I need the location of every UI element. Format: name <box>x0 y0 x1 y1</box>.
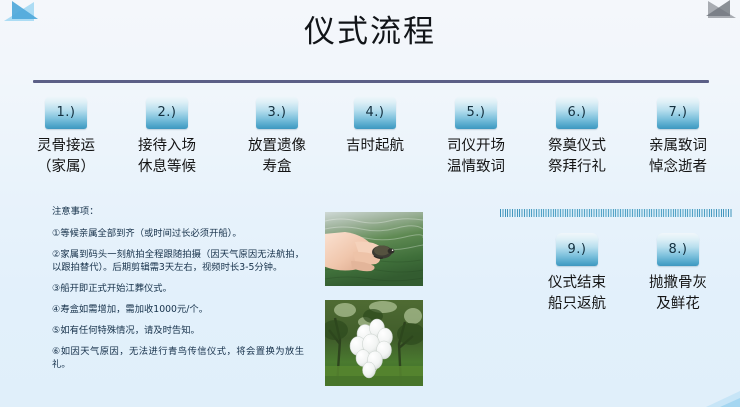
step-7-badge: 7.) <box>657 96 699 129</box>
step-8-badge: 8.) <box>657 233 699 266</box>
step-3-label: 放置遗像 寿盒 <box>229 136 325 178</box>
title-divider <box>33 80 709 83</box>
step-8[interactable]: 8.) 抛撒骨灰 及鲜花 <box>630 233 726 315</box>
step-2[interactable]: 2.) 接待入场 休息等候 <box>119 96 215 178</box>
note-item: ③船开即正式开始江葬仪式。 <box>52 282 304 295</box>
note-item: ⑥如因天气原因，无法进行青鸟传信仪式，将会置换为放生礼。 <box>52 345 304 371</box>
step-7[interactable]: 7.) 亲属致词 悼念逝者 <box>630 96 726 178</box>
step-9[interactable]: 9.) 仪式结束 船只返航 <box>529 233 625 315</box>
notes-title: 注意事项： <box>52 205 304 218</box>
note-item: ②家属到码头一刻航拍全程跟随拍摄（因天气原因无法航拍，以跟拍替代）。后期剪辑需3… <box>52 248 304 274</box>
bottom-right-triangle-accent-icon <box>720 398 740 407</box>
step-3-badge: 3.) <box>256 96 298 129</box>
photo-balloons-image <box>325 300 423 386</box>
step-1[interactable]: 1.) 灵骨接运 （家属） <box>18 96 114 178</box>
slide-canvas: 仪式流程 1.) 灵骨接运 （家属） 2.) 接待入场 休息等候 3.) 放置遗… <box>0 0 740 407</box>
step-2-label: 接待入场 休息等候 <box>119 136 215 178</box>
step-5[interactable]: 5.) 司仪开场 温情致词 <box>428 96 524 178</box>
step-2-badge: 2.) <box>146 96 188 129</box>
step-8-label: 抛撒骨灰 及鲜花 <box>630 273 726 315</box>
step-9-badge: 9.) <box>556 233 598 266</box>
step-6[interactable]: 6.) 祭奠仪式 祭拜行礼 <box>529 96 625 178</box>
note-item: ④寿盒如需增加，需加收1000元/个。 <box>52 303 304 316</box>
step-5-badge: 5.) <box>455 96 497 129</box>
step-4[interactable]: 4.) 吉时起航 <box>327 96 423 157</box>
step-6-label: 祭奠仪式 祭拜行礼 <box>529 136 625 178</box>
photo-release <box>325 212 423 286</box>
step-1-badge: 1.) <box>45 96 87 129</box>
step-3[interactable]: 3.) 放置遗像 寿盒 <box>229 96 325 178</box>
step-6-badge: 6.) <box>556 96 598 129</box>
step-1-label: 灵骨接运 （家属） <box>18 136 114 178</box>
step-5-label: 司仪开场 温情致词 <box>428 136 524 178</box>
photo-balloons <box>325 300 423 386</box>
note-item: ⑤如有任何特殊情况，请及时告知。 <box>52 324 304 337</box>
step-7-label: 亲属致词 悼念逝者 <box>630 136 726 178</box>
notes-block: 注意事项： ①等候亲属全部到齐（或时间过长必须开船）。 ②家属到码头一刻航拍全程… <box>52 205 304 379</box>
step-4-badge: 4.) <box>354 96 396 129</box>
step-4-label: 吉时起航 <box>327 136 423 157</box>
step-9-label: 仪式结束 船只返航 <box>529 273 625 315</box>
note-item: ①等候亲属全部到齐（或时间过长必须开船）。 <box>52 227 304 240</box>
page-title: 仪式流程 <box>0 11 740 53</box>
hatched-flow-connector <box>500 209 733 217</box>
photo-release-image <box>325 212 423 286</box>
